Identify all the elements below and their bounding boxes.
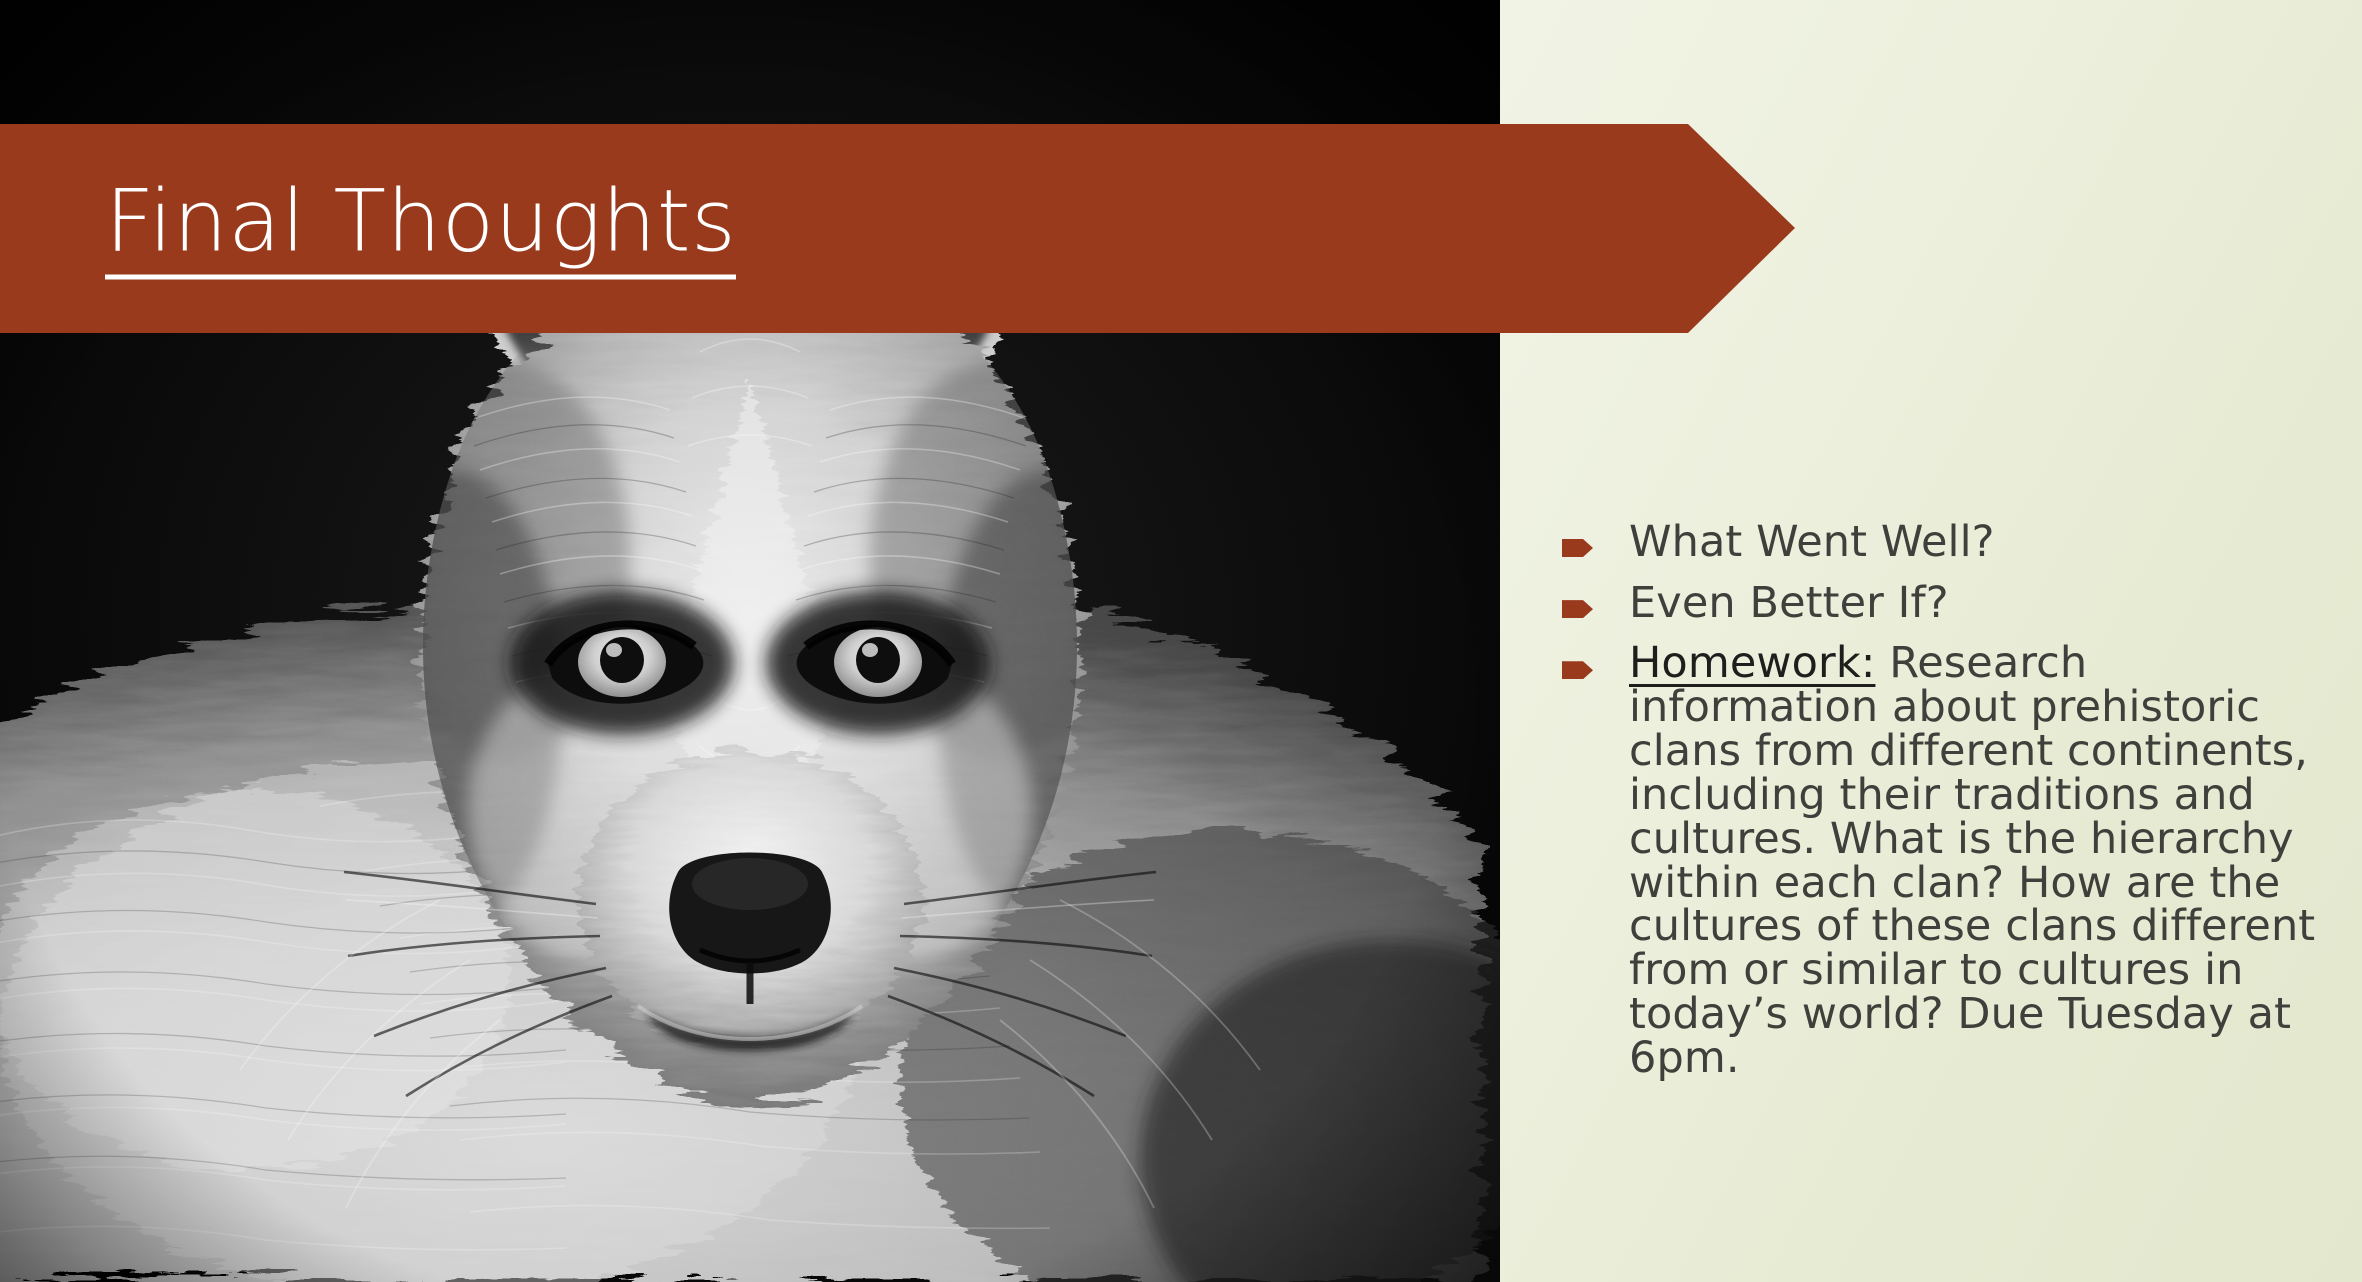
title-banner: Final Thoughts: [0, 124, 1795, 333]
list-item[interactable]: What Went Well?: [1562, 520, 2322, 565]
homework-label: Homework:: [1629, 638, 1875, 688]
arrow-bullet-icon: [1562, 539, 1593, 557]
arrow-bullet-icon: [1562, 661, 1593, 679]
slide: Final Thoughts What Went Well? Even Bett…: [0, 0, 2362, 1282]
page-title: Final Thoughts: [105, 178, 736, 279]
homework-body: Research information about prehistoric c…: [1629, 638, 2315, 1083]
arrow-bullet-icon: [1562, 600, 1593, 618]
bullet-text-what-went-well: What Went Well?: [1629, 520, 2322, 565]
bullet-text-even-better-if: Even Better If?: [1629, 581, 2322, 626]
bullet-list: What Went Well? Even Better If? Homework…: [1562, 520, 2322, 1081]
bullet-text-homework: Homework: Research information about pre…: [1629, 642, 2322, 1081]
list-item[interactable]: Homework: Research information about pre…: [1562, 642, 2322, 1081]
list-item[interactable]: Even Better If?: [1562, 581, 2322, 626]
